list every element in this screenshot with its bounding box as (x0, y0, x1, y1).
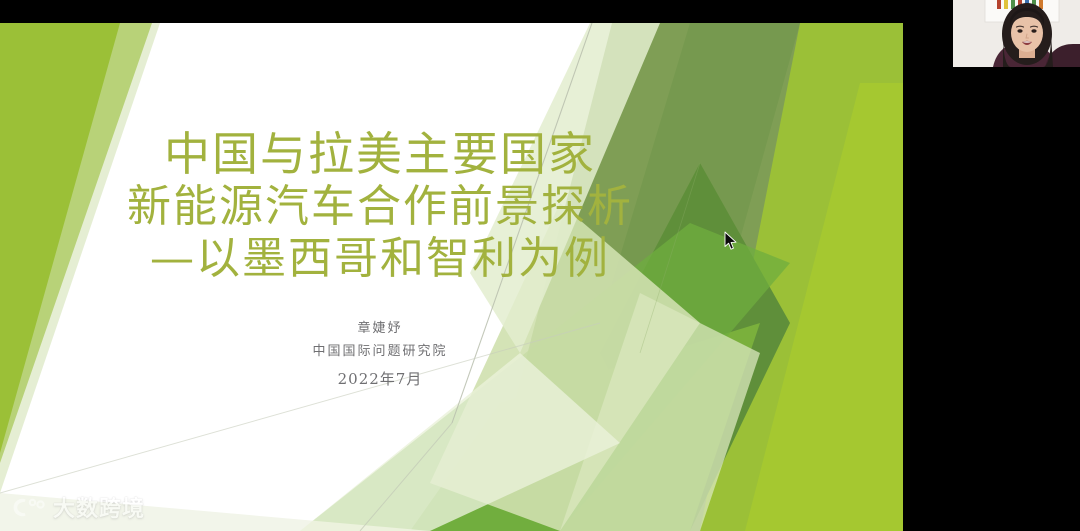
presenter-video-image (953, 0, 1080, 67)
title-line-3: —以墨西哥和智利为例 (127, 233, 633, 285)
slide-title: 中国与拉美主要国家 新能源汽车合作前景探析 —以墨西哥和智利为例 (127, 127, 633, 285)
title-line-2: 新能源汽车合作前景探析 (127, 181, 633, 233)
slide-title-block: 中国与拉美主要国家 新能源汽车合作前景探析 —以墨西哥和智利为例 章婕妤 中国国… (0, 23, 760, 531)
slide-metadata: 章婕妤 中国国际问题研究院 2022年7月 (312, 317, 447, 393)
screen-share-stage: 中国与拉美主要国家 新能源汽车合作前景探析 —以墨西哥和智利为例 章婕妤 中国国… (0, 0, 1080, 531)
deco-right-bright-column-b (745, 83, 903, 531)
organization-name: 中国国际问题研究院 (312, 340, 447, 363)
presentation-date: 2022年7月 (312, 366, 447, 393)
presenter-video-thumbnail[interactable] (953, 0, 1080, 67)
presentation-slide[interactable]: 中国与拉美主要国家 新能源汽车合作前景探析 —以墨西哥和智利为例 章婕妤 中国国… (0, 23, 903, 531)
author-name: 章婕妤 (312, 317, 447, 340)
title-line-1: 中国与拉美主要国家 (127, 127, 633, 181)
